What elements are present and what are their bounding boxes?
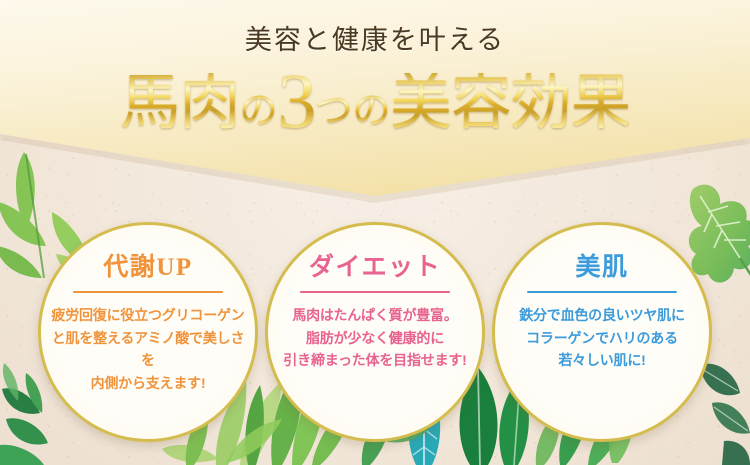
benefit-title: 美肌 — [575, 255, 628, 280]
title-counter-tsuno: つの — [315, 92, 391, 130]
benefit-line: 疲労回復に役立つグリコーゲン — [45, 304, 251, 327]
benefit-line: 脂肪が少なく健康的に — [272, 327, 478, 350]
benefit-line: 若々しい肌に! — [499, 349, 705, 372]
benefit-line: 内側から支えます! — [45, 372, 251, 395]
benefit-line: 馬肉はたんぱく質が豊富。 — [272, 304, 478, 327]
benefit-line: 鉄分で血色の良いツヤ肌に — [499, 304, 705, 327]
promo-banner: 美容と健康を叶える 馬肉の3つの美容効果 — [0, 0, 750, 465]
benefit-description: 鉄分で血色の良いツヤ肌に コラーゲンでハリのある 若々しい肌に! — [499, 304, 705, 372]
benefit-divider — [527, 291, 677, 293]
benefit-line: 引き締まった体を目指せます! — [272, 349, 478, 372]
banner-title: 馬肉の3つの美容効果 — [0, 62, 750, 140]
benefit-divider — [300, 291, 450, 293]
benefit-description: 疲労回復に役立つグリコーゲン と肌を整えるアミノ酸で美しさを 内側から支えます! — [45, 304, 251, 395]
title-particle-no: の — [239, 92, 277, 130]
benefit-circle-metabolism[interactable]: 代謝UP 疲労回復に役立つグリコーゲン と肌を整えるアミノ酸で美しさを 内側から… — [38, 222, 258, 442]
benefit-line: と肌を整えるアミノ酸で美しさを — [45, 327, 251, 372]
banner-subtitle: 美容と健康を叶える — [0, 18, 750, 57]
benefit-line: コラーゲンでハリのある — [499, 327, 705, 350]
title-number-three: 3 — [278, 62, 315, 140]
benefit-title: ダイエット — [309, 255, 441, 280]
benefit-description: 馬肉はたんぱく質が豊富。 脂肪が少なく健康的に 引き締まった体を目指せます! — [272, 304, 478, 372]
title-part1: 馬肉 — [119, 73, 239, 134]
title-part2: 美容効果 — [391, 73, 631, 134]
benefit-title: 代謝UP — [103, 255, 192, 280]
benefit-divider — [73, 291, 223, 293]
benefit-circle-diet[interactable]: ダイエット 馬肉はたんぱく質が豊富。 脂肪が少なく健康的に 引き締まった体を目指… — [265, 222, 485, 442]
benefit-circle-beautiful-skin[interactable]: 美肌 鉄分で血色の良いツヤ肌に コラーゲンでハリのある 若々しい肌に! — [492, 222, 712, 442]
